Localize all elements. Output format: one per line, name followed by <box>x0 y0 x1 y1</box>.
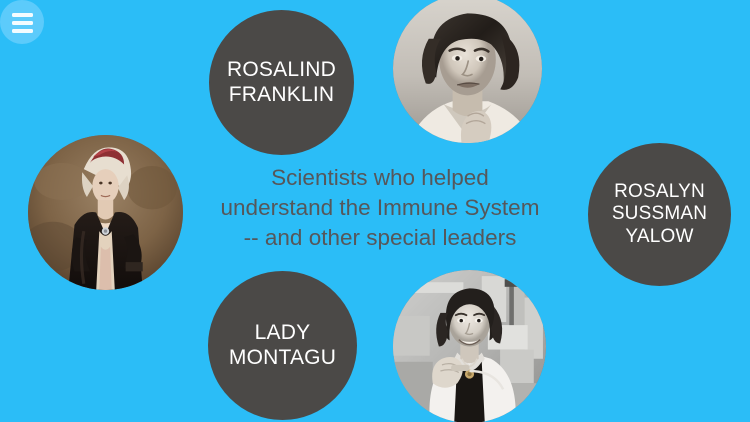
bubble-rosalyn-sussman-yalow-name[interactable]: ROSALYN SUSSMAN YALOW <box>588 143 731 286</box>
hamburger-menu-icon-bar-1 <box>12 13 33 17</box>
bubble-lady-montagu-name[interactable]: LADY MONTAGU <box>208 271 357 420</box>
hamburger-menu-icon-bar-3 <box>12 29 33 33</box>
bubble-rosalyn-yalow-photo[interactable] <box>393 270 546 422</box>
portrait-rosalyn-yalow-image <box>393 270 546 422</box>
hamburger-menu-button[interactable] <box>0 0 44 44</box>
bubble-lady-montagu-photo[interactable] <box>28 135 183 290</box>
portrait-rosalind-franklin-image <box>393 0 542 143</box>
page-caption: Scientists who helped understand the Imm… <box>185 163 575 253</box>
bubble-label: ROSALIND FRANKLIN <box>217 58 346 108</box>
bubble-label: LADY MONTAGU <box>219 321 346 371</box>
hamburger-menu-icon-bar-2 <box>12 21 33 25</box>
bubble-rosalind-franklin-name[interactable]: ROSALIND FRANKLIN <box>209 10 354 155</box>
portrait-lady-montagu-image <box>28 135 183 290</box>
bubble-rosalind-franklin-photo[interactable] <box>393 0 542 143</box>
app-root: ROSALIND FRANKLIN <box>0 0 750 422</box>
bubble-label: ROSALYN SUSSMAN YALOW <box>602 181 717 248</box>
